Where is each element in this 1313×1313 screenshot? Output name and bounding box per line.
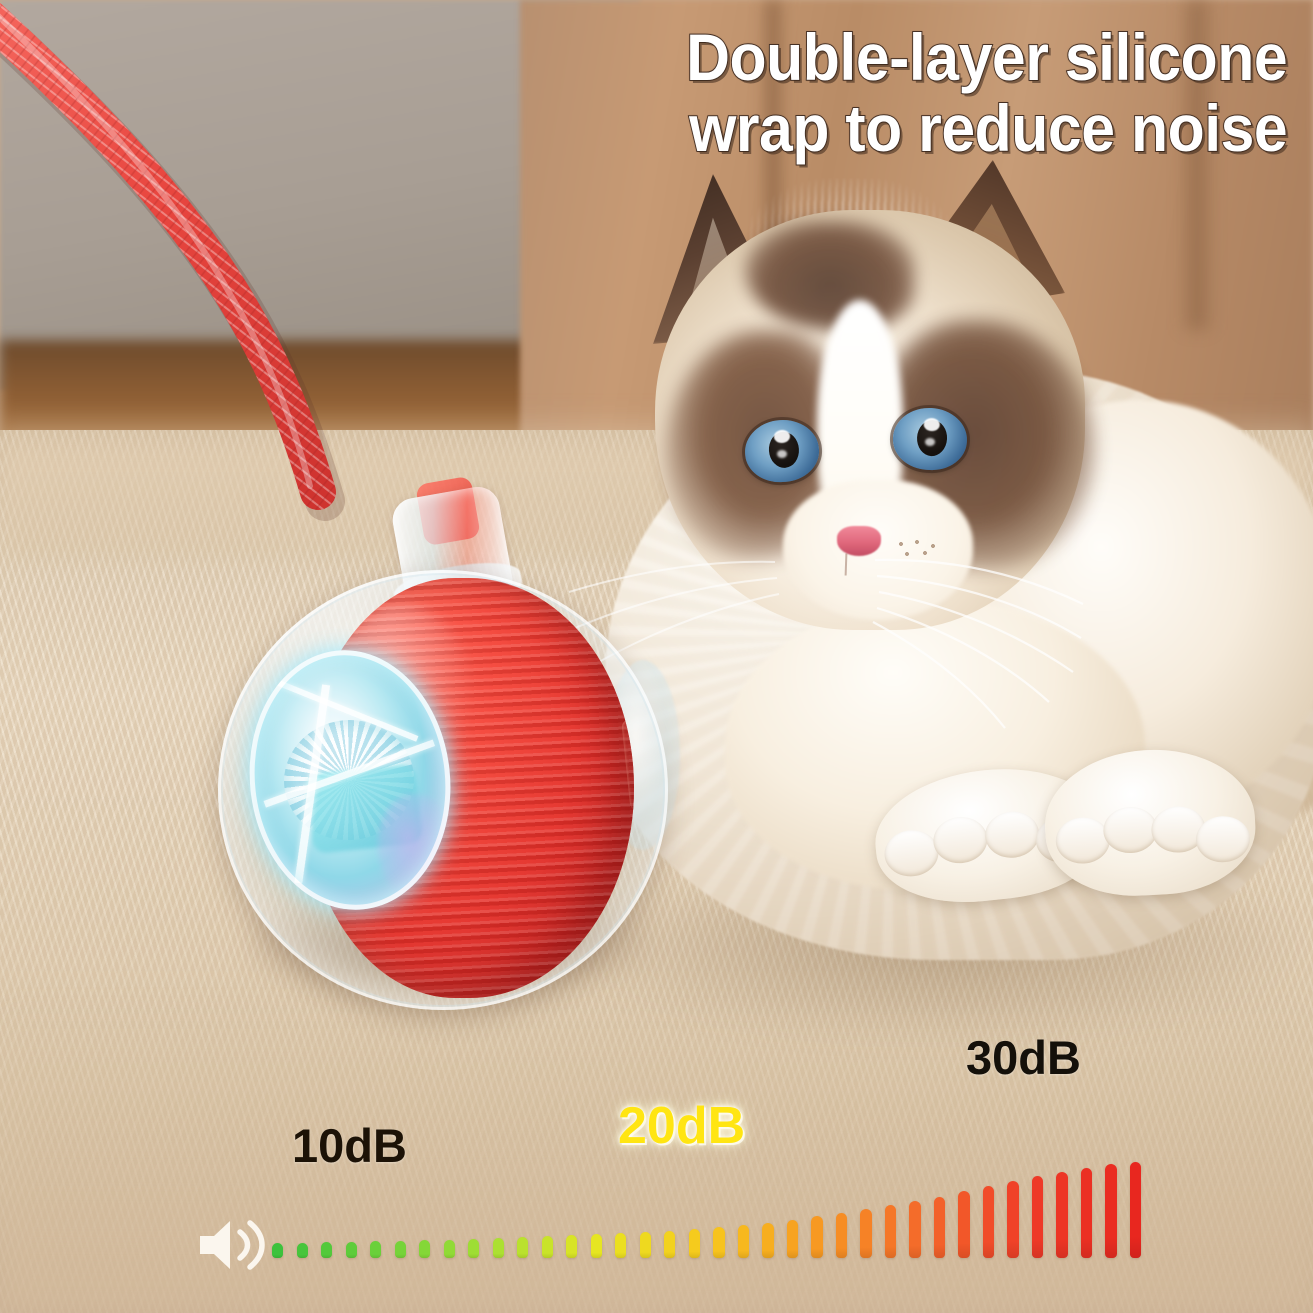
headline-line-1: Double-layer silicone — [105, 22, 1287, 93]
noise-bar — [762, 1223, 773, 1258]
noise-bar — [664, 1231, 675, 1258]
noise-bar — [370, 1241, 381, 1258]
noise-bar — [346, 1242, 357, 1258]
noise-bar — [640, 1232, 651, 1258]
cat-whisker-pad-dots — [895, 540, 951, 568]
noise-bar — [983, 1186, 994, 1258]
noise-bar — [909, 1201, 920, 1258]
noise-bar — [419, 1240, 430, 1258]
noise-bar — [542, 1236, 553, 1258]
cat-ball-toy — [208, 470, 688, 1010]
noise-bar — [689, 1229, 700, 1258]
noise-bar — [738, 1225, 749, 1258]
noise-bar — [615, 1233, 626, 1258]
noise-bar-series — [0, 1040, 1313, 1280]
noise-bar — [1007, 1181, 1018, 1258]
noise-bar — [566, 1235, 577, 1258]
noise-bar — [934, 1197, 945, 1258]
headline-line-2: wrap to reduce noise — [105, 93, 1287, 164]
noise-bar — [787, 1220, 798, 1258]
noise-bar — [713, 1227, 724, 1258]
noise-bar — [321, 1242, 332, 1258]
noise-bar — [297, 1243, 308, 1258]
headline: Double-layer silicone wrap to reduce noi… — [105, 22, 1313, 165]
noise-bar — [958, 1191, 969, 1258]
noise-bar — [395, 1241, 406, 1258]
noise-bar — [468, 1239, 479, 1258]
noise-bar — [836, 1213, 847, 1258]
cat-mouth — [845, 553, 876, 576]
noise-bar — [444, 1240, 455, 1258]
noise-bar — [272, 1243, 283, 1258]
noise-bar — [811, 1216, 822, 1258]
noise-bar — [591, 1234, 602, 1258]
noise-bar — [1081, 1168, 1092, 1258]
noise-bar — [860, 1209, 871, 1258]
noise-bar — [885, 1205, 896, 1258]
product-marketing-image: Double-layer silicone wrap to reduce noi… — [0, 0, 1313, 1313]
cat-eye-left-glint — [777, 450, 787, 458]
cat-eye-right-glint — [925, 438, 935, 446]
noise-bar — [1130, 1162, 1141, 1258]
noise-bar — [1105, 1164, 1116, 1258]
noise-bar — [1056, 1172, 1067, 1258]
noise-bar — [517, 1237, 528, 1258]
noise-bar — [1032, 1176, 1043, 1258]
cat-nose — [837, 526, 881, 556]
shell-rim-highlight — [218, 570, 668, 1010]
noise-bar — [493, 1238, 504, 1258]
